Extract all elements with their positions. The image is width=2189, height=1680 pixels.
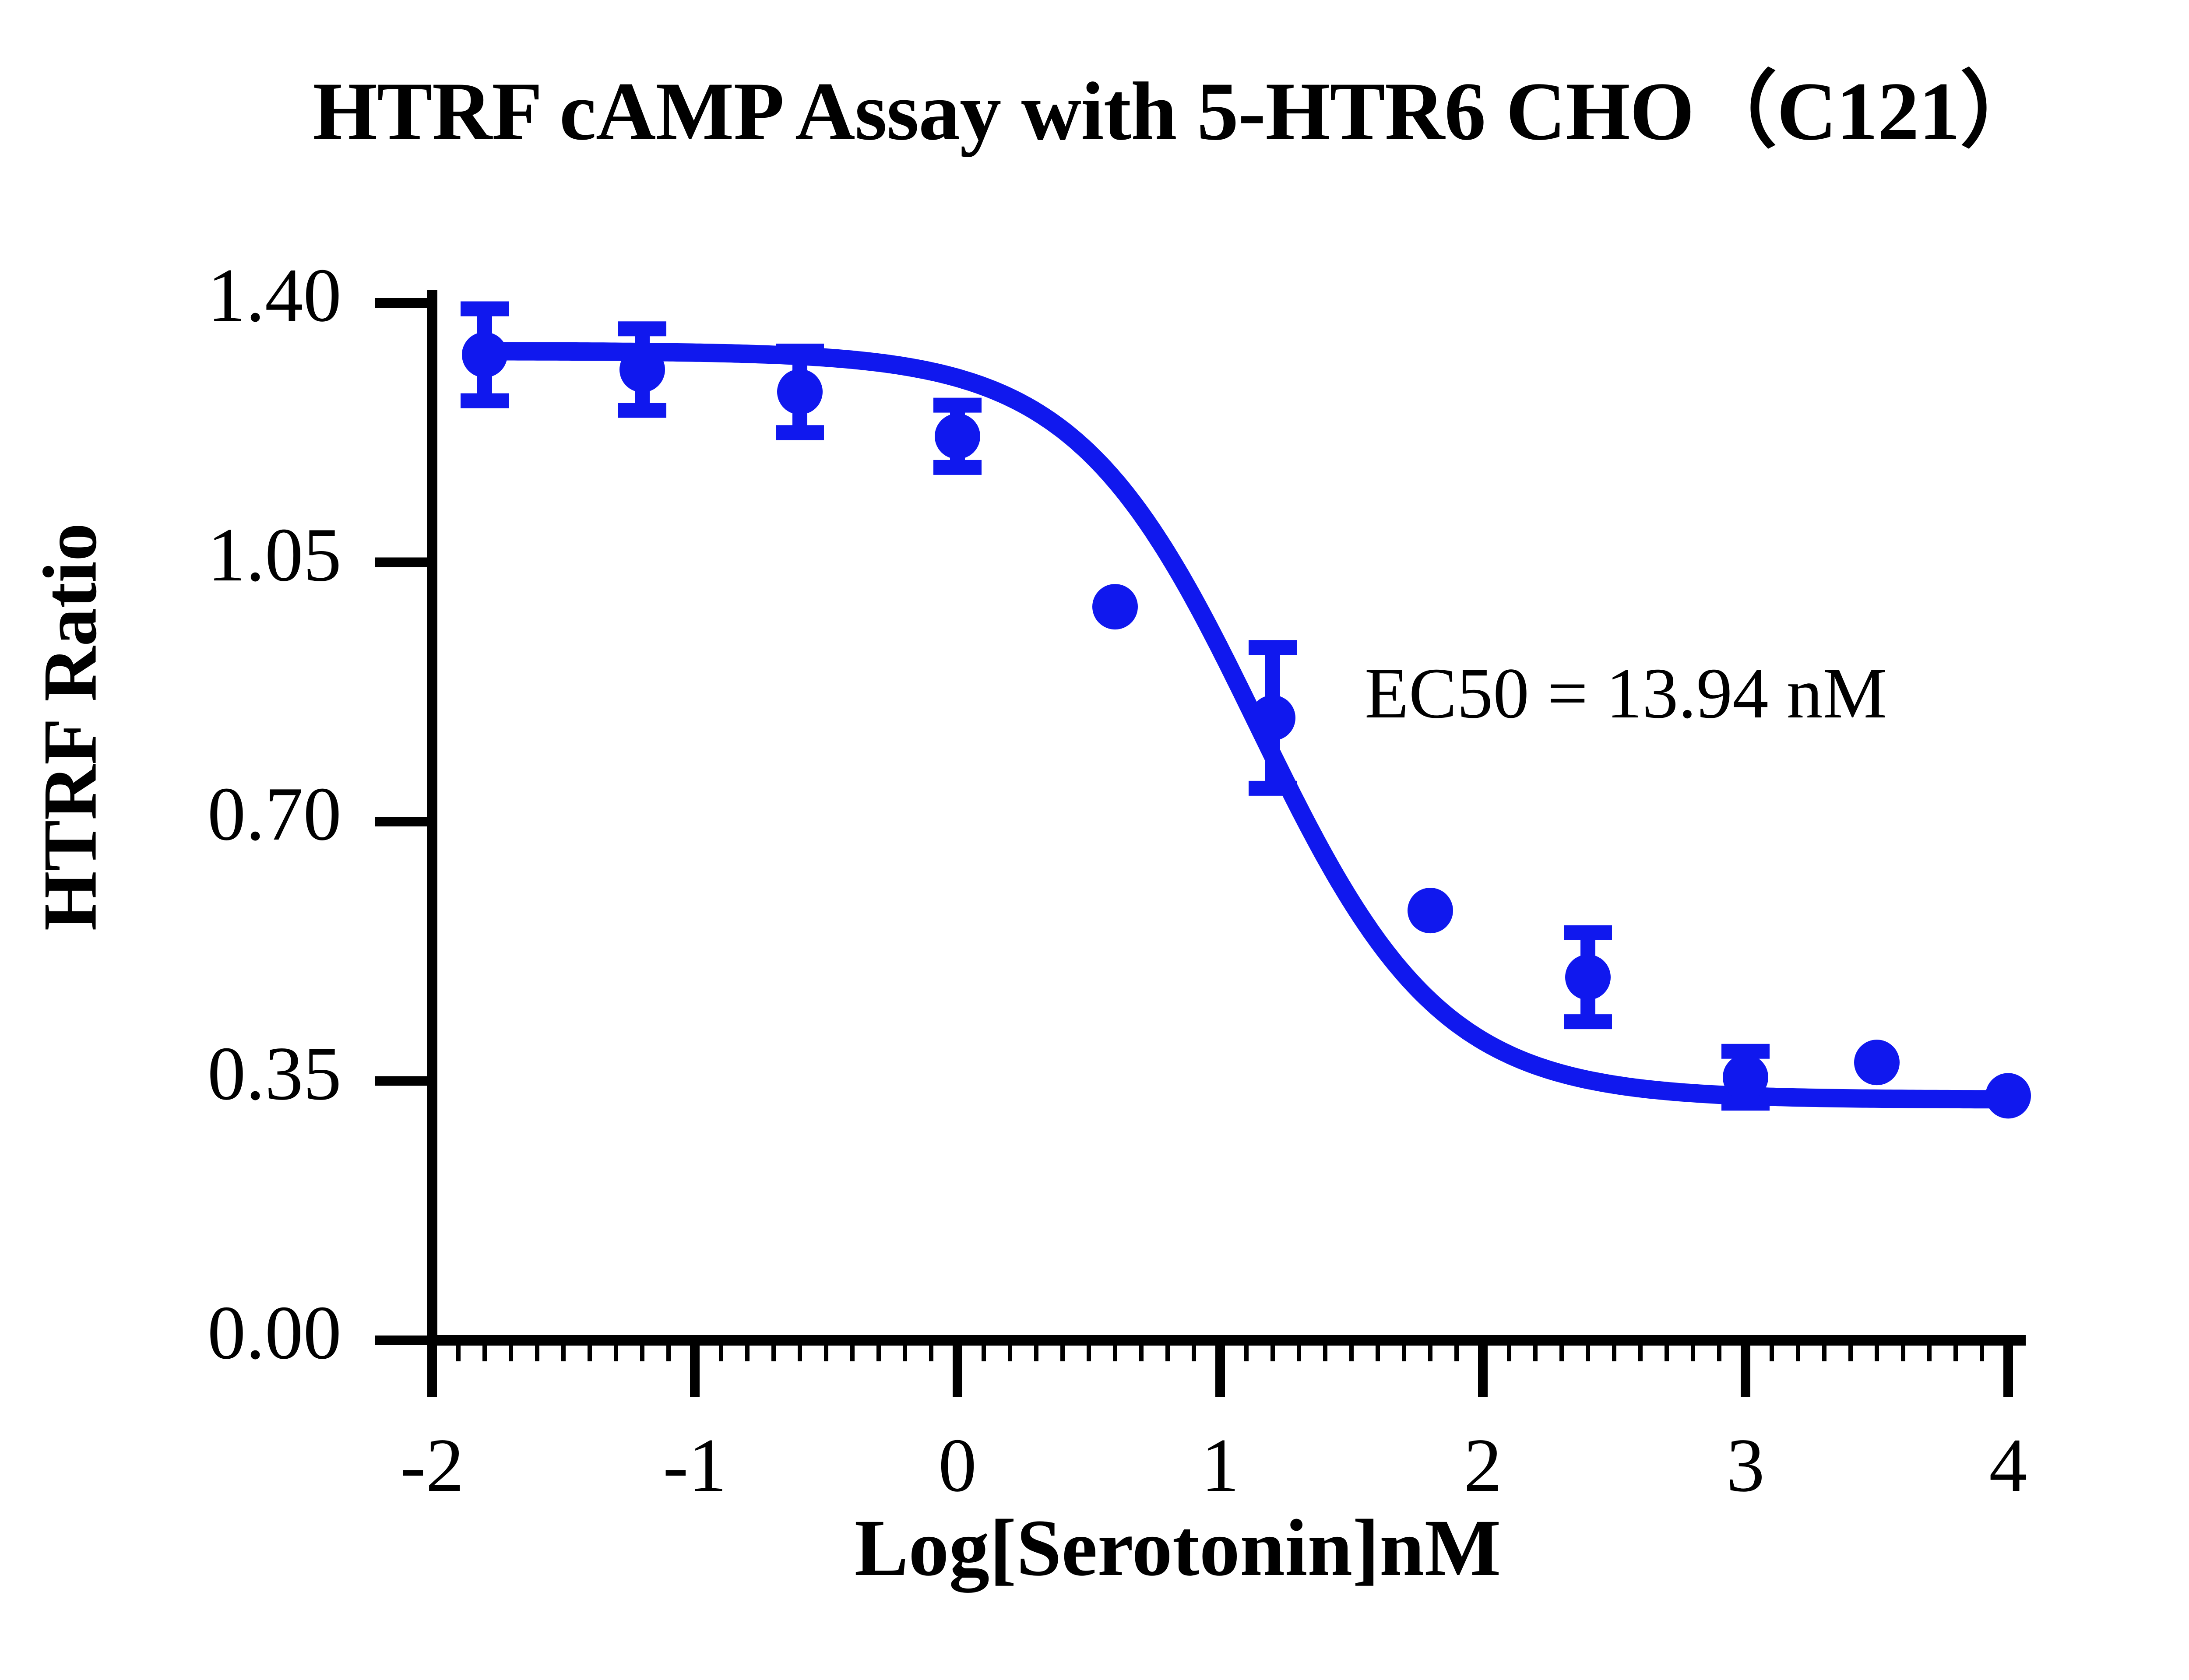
data-point-marker (462, 332, 507, 378)
data-point-marker (777, 369, 823, 415)
data-point-marker (1565, 955, 1611, 1000)
chart-figure: HTRF cAMP Assay with 5-HTR6 CHO（C121） HT… (0, 0, 2189, 1680)
plot-area (0, 0, 2189, 1680)
data-point-marker (619, 347, 665, 392)
data-point-marker (935, 414, 980, 459)
data-point-marker (1250, 695, 1295, 741)
data-point-marker (1723, 1054, 1768, 1100)
data-point-marker (1408, 888, 1453, 933)
data-point-marker (1092, 584, 1138, 629)
fit-curve (472, 351, 2021, 1099)
data-point-marker (1854, 1040, 1900, 1085)
data-point-marker (1985, 1073, 2031, 1118)
